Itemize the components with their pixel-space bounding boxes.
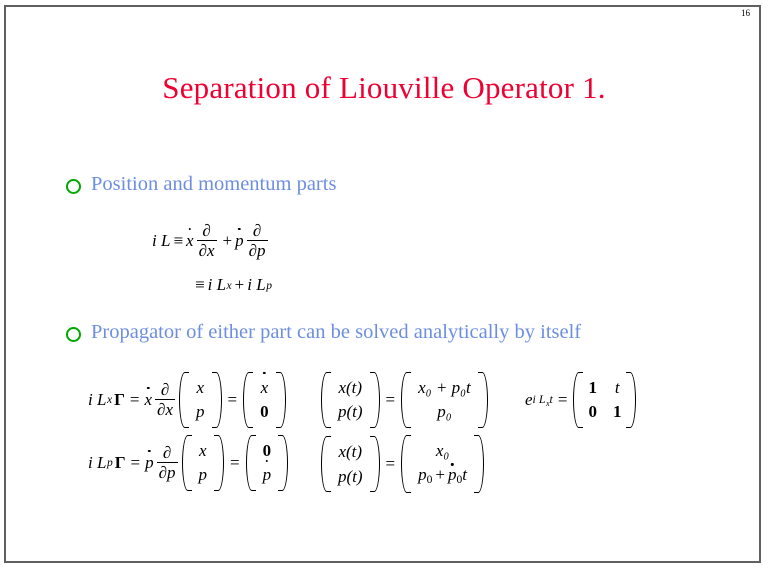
paren-right <box>474 435 484 493</box>
equals-sign: = <box>381 454 401 474</box>
vector-entry: x₀ + p₀t <box>416 375 473 400</box>
vector-entry: x <box>258 375 271 400</box>
ilp-base: i L <box>247 275 265 295</box>
exponential-base: e <box>525 390 533 410</box>
partial-denominator: ∂p <box>157 462 178 481</box>
exponent-expression: i Lxt <box>533 392 553 407</box>
matrix-cell: 1 <box>612 400 623 425</box>
gamma-symbol: Γ <box>113 453 126 473</box>
ilx-base: i L <box>208 275 226 295</box>
vector-entry: p(t) <box>336 400 365 425</box>
partial-numerator: ∂ <box>251 222 263 240</box>
column-vector-result: x 0 <box>243 372 286 428</box>
equals-sign: = <box>223 390 243 410</box>
equation-liouville-definition: i L ≡ x ∂ ∂x + p ∂ ∂p <box>152 222 271 260</box>
paren-left <box>246 435 256 491</box>
bullet-item-propagator: Propagator of either part can be solved … <box>66 321 581 345</box>
column-vector-state: x p <box>179 372 222 428</box>
equation-liouville-split: ≡ i L x + i L p <box>192 275 272 295</box>
equals-sign: = <box>225 453 245 473</box>
ilp-base: i L <box>88 453 106 473</box>
bullet-item-position-momentum: Position and momentum parts <box>66 173 336 197</box>
matrix-cell: t <box>612 375 623 400</box>
paren-right <box>214 435 224 491</box>
equation-solution-p-propagator: x(t) p(t) = x₀ p0+p0t <box>320 435 485 493</box>
partial-numerator: ∂ <box>200 222 212 240</box>
vector-entry: p(t) <box>336 464 365 489</box>
equation-ilp-gamma: i L p Γ = p ∂ ∂p x p = 0 p <box>88 435 289 491</box>
x-dot-coefficient: x <box>145 390 153 410</box>
plus-sign: + <box>220 231 236 251</box>
paren-right <box>276 372 286 428</box>
matrix-cell: 1 <box>587 375 598 400</box>
partial-denominator: ∂p <box>247 240 268 259</box>
p-dot-coefficient: p <box>145 453 154 473</box>
vector-entry: x <box>194 375 207 400</box>
circle-outline-icon <box>66 179 81 194</box>
paren-left <box>243 372 253 428</box>
plus-sign: + <box>232 275 248 295</box>
partial-numerator: ∂ <box>159 381 171 399</box>
partial-denominator: ∂x <box>155 399 175 418</box>
ilx-base: i L <box>88 390 106 410</box>
equals-sign: = <box>126 453 146 473</box>
partial-p-fraction: ∂ ∂p <box>247 222 268 260</box>
column-vector-state: x p <box>182 435 225 491</box>
p-dot-term: p <box>235 231 244 251</box>
paren-right <box>478 372 488 428</box>
paren-left <box>573 372 583 428</box>
paren-left <box>401 372 411 428</box>
vector-entry: p <box>261 463 274 488</box>
x-dot-term: x <box>186 231 194 251</box>
equation-exponential-propagator-matrix: e i Lxt = 1 t 0 1 <box>525 372 637 428</box>
column-vector-solution: x₀ p0+p0t <box>401 435 484 493</box>
vector-entry: 0 <box>258 400 271 425</box>
paren-left <box>321 436 331 492</box>
circle-outline-icon <box>66 327 81 342</box>
paren-left <box>182 435 192 491</box>
equivalence-sign: ≡ <box>192 275 208 295</box>
partial-p-fraction: ∂ ∂p <box>157 444 178 482</box>
equals-sign: = <box>125 390 145 410</box>
exponent-base: i L <box>533 392 546 406</box>
vector-entry: x₀ <box>416 438 469 463</box>
column-vector-state-t: x(t) p(t) <box>321 372 380 428</box>
partial-denominator: ∂x <box>197 240 217 259</box>
equals-sign: = <box>381 390 401 410</box>
partial-x-fraction: ∂ ∂x <box>155 381 175 419</box>
paren-left <box>179 372 189 428</box>
vector-entry: x(t) <box>336 439 365 464</box>
equals-sign: = <box>553 390 573 410</box>
paren-right <box>370 436 380 492</box>
equation-solution-x-propagator: x(t) p(t) = x₀ + p₀t p₀ <box>320 372 489 428</box>
paren-right <box>278 435 288 491</box>
vector-entry: x <box>197 438 210 463</box>
vector-entry: x(t) <box>336 375 365 400</box>
bullet-item-label: Propagator of either part can be solved … <box>91 321 581 345</box>
column-vector-result: 0 p <box>246 435 289 491</box>
column-vector-solution: x₀ + p₀t p₀ <box>401 372 488 428</box>
ilp-subscript: p <box>266 279 272 292</box>
slide-canvas: 16 Separation of Liouville Operator 1. P… <box>0 0 768 576</box>
matrix-cell: 0 <box>587 400 598 425</box>
gamma-symbol: Γ <box>112 390 125 410</box>
equation-lhs: i L <box>152 231 170 251</box>
vector-entry: p0+p0t <box>416 463 469 490</box>
bullet-item-label: Position and momentum parts <box>91 173 336 197</box>
vector-entry: p <box>197 463 210 488</box>
paren-right <box>626 372 636 428</box>
equivalence-sign: ≡ <box>170 231 186 251</box>
paren-left <box>401 435 411 493</box>
propagator-matrix: 1 t 0 1 <box>573 372 636 428</box>
partial-numerator: ∂ <box>161 444 173 462</box>
column-vector-state-t: x(t) p(t) <box>321 436 380 492</box>
vector-entry: p₀ <box>416 400 473 425</box>
paren-right <box>370 372 380 428</box>
vector-entry: p <box>194 400 207 425</box>
paren-right <box>212 372 222 428</box>
page-number: 16 <box>741 9 750 18</box>
equation-ilx-gamma: i L x Γ = x ∂ ∂x x p = x 0 <box>88 372 287 428</box>
page-title: Separation of Liouville Operator 1. <box>0 70 768 106</box>
partial-x-fraction: ∂ ∂x <box>197 222 217 260</box>
paren-left <box>321 372 331 428</box>
